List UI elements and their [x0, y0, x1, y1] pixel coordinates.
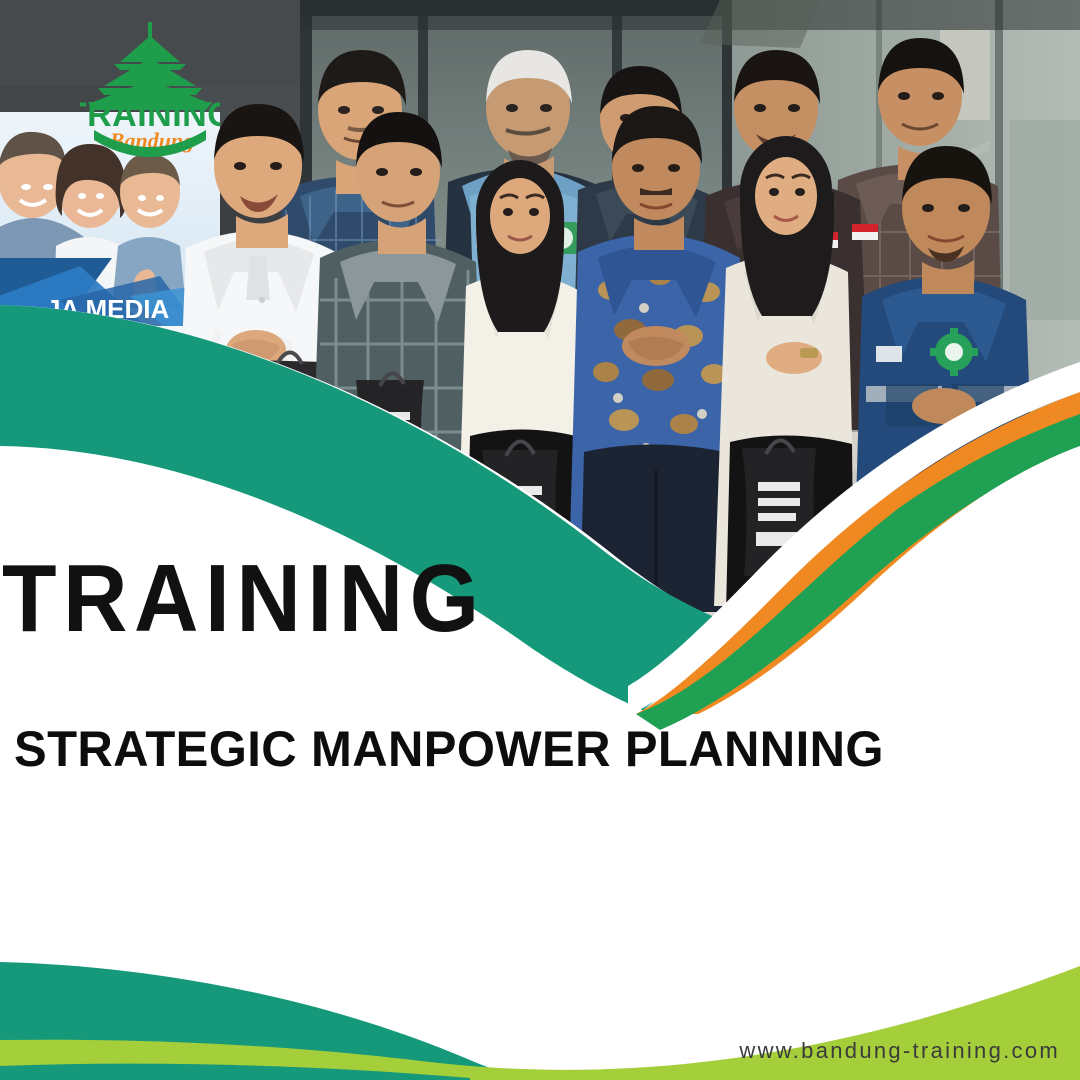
- course-subtitle: STRATEGIC MANPOWER PLANNING: [14, 722, 884, 776]
- bottom-teal-overlap: [0, 1064, 470, 1080]
- logo-mark: BANDUNG TRAINING Bandung: [80, 18, 220, 163]
- logo-top-word: BANDUNG: [118, 75, 183, 87]
- bottom-teal-wave: [0, 962, 740, 1080]
- banner-subline-text: T N G: [76, 327, 136, 344]
- logo[interactable]: BANDUNG TRAINING Bandung: [80, 18, 220, 163]
- banner-headline-text: JA MEDIA: [46, 294, 169, 324]
- page-title: TRAINING: [2, 551, 486, 647]
- website-url[interactable]: www.bandung-training.com: [739, 1038, 1060, 1064]
- training-poster: JA MEDIA T N G: [0, 0, 1080, 1080]
